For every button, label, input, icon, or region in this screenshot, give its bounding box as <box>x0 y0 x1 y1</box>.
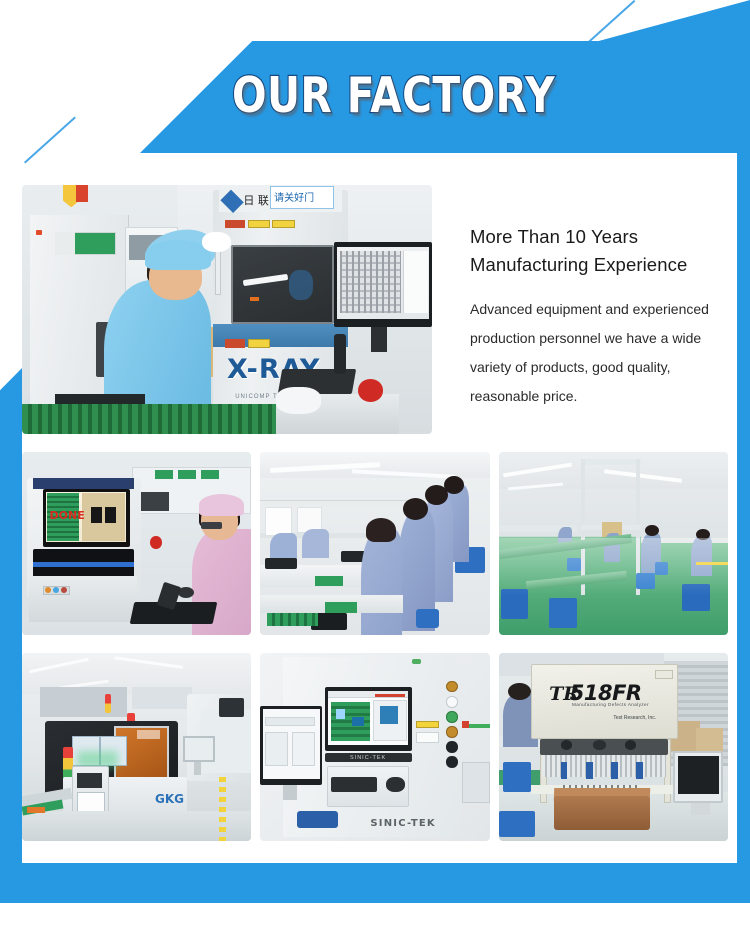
bed-of-nails-fixture <box>554 796 650 830</box>
tr518fr-tester-photo: TR 518FR Manufacturing Defects Analyzer … <box>499 653 728 841</box>
smt-machine-label: GKG <box>155 792 187 811</box>
xray-screen-image <box>340 251 402 313</box>
emergency-stop-button <box>358 379 383 401</box>
sinic-tek-machine-photo: SINIC-TEK SINIC-TEK <box>260 653 489 841</box>
tr518fr-company-label: Test Research, Inc. <box>613 715 677 721</box>
door-notice-sign: 请关好门 <box>274 189 331 204</box>
tr518fr-sublabel: Manufacturing Defects Analyzer <box>572 702 650 707</box>
indicator-button-green <box>446 711 457 722</box>
indicator-button-white <box>446 696 457 707</box>
hero-heading: More Than 10 Years Manufacturing Experie… <box>470 223 728 279</box>
hero-text-block: More Than 10 Years Manufacturing Experie… <box>432 185 728 434</box>
gallery-row-2: DONE <box>22 452 728 635</box>
indicator-button-dark-2 <box>446 756 457 767</box>
aoi-inspection-photo: DONE <box>22 452 251 635</box>
aoi-screen-status: DONE <box>50 509 78 522</box>
emergency-stop-button <box>150 536 161 549</box>
x-ray-inspection-photo: 日 联 请关好门 X-RAY UNICOMP TECHNOLOGY <box>22 185 432 434</box>
gallery-row-3: GKG <box>22 653 728 841</box>
indicator-button-amber <box>446 681 457 692</box>
production-floor-photo <box>499 452 728 635</box>
indicator-button-dark <box>446 741 457 752</box>
hero-paragraph: Advanced equipment and experienced produ… <box>470 295 728 411</box>
page-content: 日 联 请关好门 X-RAY UNICOMP TECHNOLOGY <box>0 0 750 937</box>
indicator-button-amber-2 <box>446 726 457 737</box>
assembly-line-photo <box>260 452 489 635</box>
hero-section: 日 联 请关好门 X-RAY UNICOMP TECHNOLOGY <box>22 185 728 434</box>
machine-nameplate-label: SINIC-TEK <box>347 755 388 761</box>
sinic-tek-machine-label: SINIC-TEK <box>370 818 439 829</box>
factory-page: OUR FACTORY 日 联 <box>0 0 750 937</box>
smt-line-photo: GKG <box>22 653 251 841</box>
